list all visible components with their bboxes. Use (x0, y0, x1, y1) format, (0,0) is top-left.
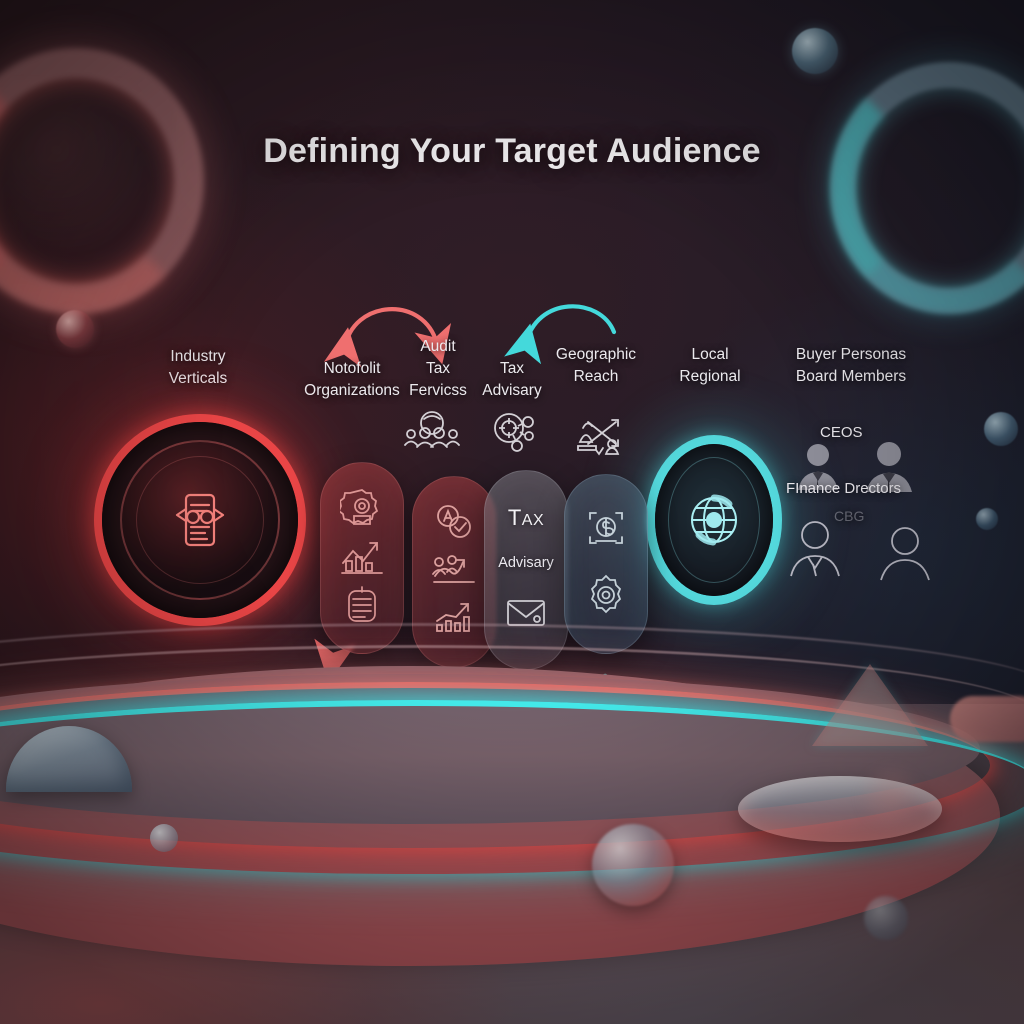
category-label-local-regional: LocalRegional (664, 344, 756, 388)
category-label-line: Buyer Personas (782, 344, 920, 366)
category-label-line: Industry (108, 346, 288, 368)
glass-torus-cyan-icon (830, 62, 1024, 314)
glass-sphere-prop (150, 824, 178, 852)
card-advisory-label: Advisary (498, 555, 554, 571)
category-label-audit-tax-services: AuditTaxFervicss (400, 336, 476, 402)
category-label-line: Verticals (108, 368, 288, 390)
category-label-industry-verticals: IndustryVerticals (108, 346, 288, 390)
page-title: Defining Your Target Audience (0, 132, 1024, 171)
industry-verticals-badge[interactable] (102, 422, 298, 618)
glass-bubble-icon (976, 508, 998, 530)
glass-sphere-prop (592, 824, 674, 906)
audience-trend-icon (431, 552, 477, 593)
category-label-line: Fervicss (400, 380, 476, 402)
document-scales-icon (102, 422, 298, 618)
capsule-prop (950, 696, 1024, 742)
category-label-geographic-reach: GeographicReach (540, 344, 652, 388)
glass-torus-red-icon (0, 48, 204, 314)
infographic-canvas: Defining Your Target Audience IndustryVe… (0, 0, 1024, 1024)
persona-label-faded: CBG (834, 508, 864, 524)
gear-settings-icon (340, 486, 384, 535)
persona-label-ceos: CEOS (820, 424, 863, 441)
category-label-line: Geographic (540, 344, 652, 366)
lens-flare (854, 766, 928, 828)
category-label-line: Regional (664, 366, 756, 388)
category-label-line: Board Members (782, 366, 920, 388)
target-network-icon (489, 410, 537, 459)
growth-bar-chart-icon (339, 537, 385, 582)
people-group-icon (404, 409, 460, 456)
category-label-row: IndustryVerticalsNotofolitOrganizationsA… (0, 338, 1024, 404)
globe-network-icon (655, 444, 773, 596)
gear-settings-icon (584, 573, 628, 622)
glass-sphere-prop (864, 896, 908, 940)
category-label-line: Audit (400, 336, 476, 358)
geographic-reach-badge[interactable] (655, 444, 773, 596)
neon-triangle-prop (812, 664, 928, 746)
category-label-line: Tax (400, 358, 476, 380)
dollar-scan-icon (584, 506, 628, 555)
glass-bubble-icon (792, 28, 838, 74)
persona-label-finance-directors: FInance Drectors (786, 480, 901, 497)
persona-outline-icon (876, 524, 934, 587)
analytics-check-icon (433, 502, 475, 547)
category-label-line: Local (664, 344, 756, 366)
glass-bubble-icon (984, 412, 1018, 446)
category-label-line: Reach (540, 366, 652, 388)
strategy-chess-icon (572, 412, 624, 463)
persona-outline-icon (786, 518, 844, 583)
card-tax-label: TAX (508, 505, 544, 531)
category-label-buyer-personas: Buyer PersonasBoard Members (782, 344, 920, 388)
